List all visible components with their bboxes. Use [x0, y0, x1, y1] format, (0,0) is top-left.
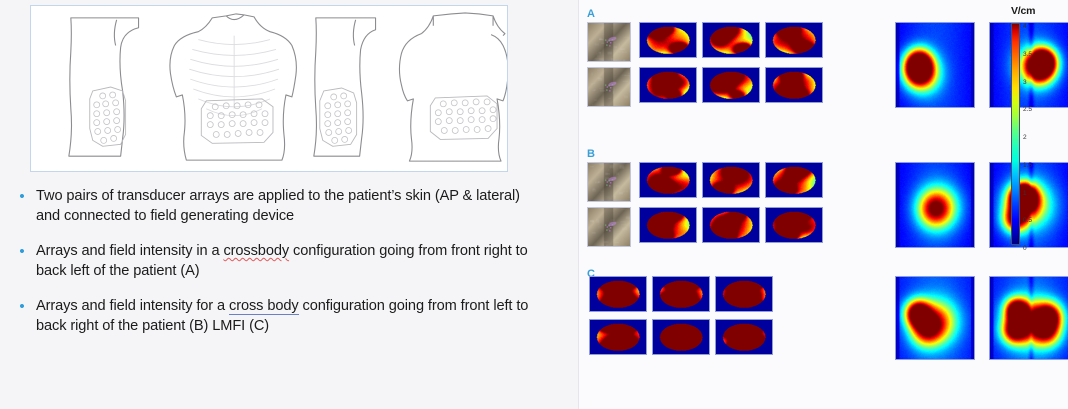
- axial-slice-heatmap: [702, 207, 760, 243]
- axial-slice-heatmap: [652, 319, 710, 355]
- axial-slice-heatmap: [715, 276, 773, 312]
- text-run: Two pairs of transducer arrays are appli…: [36, 188, 520, 224]
- torso-outline-figures: [31, 6, 507, 171]
- coronal-field-map: [989, 276, 1068, 360]
- bullet-marker-icon: •: [8, 241, 36, 260]
- spell-error-text: crossbody: [223, 243, 289, 259]
- colorbar-gradient: [1011, 23, 1020, 245]
- bullet-text: Two pairs of transducer arrays are appli…: [36, 186, 546, 226]
- axial-slice-heatmap: [765, 67, 823, 103]
- left-content-column: •Two pairs of transducer arrays are appl…: [0, 0, 578, 409]
- colorbar-ticks: 43.532.521.510.50: [1023, 19, 1059, 249]
- axial-slice-heatmap: [702, 22, 760, 58]
- text-run: Arrays and field intensity in a: [36, 243, 223, 259]
- bullet-marker-icon: •: [8, 296, 36, 315]
- axial-slice-heatmap: [765, 162, 823, 198]
- sagittal-field-map: [895, 276, 975, 360]
- bullet-marker-icon: •: [8, 186, 36, 205]
- axial-slice-heatmap: [652, 276, 710, 312]
- bullet-text: Arrays and field intensity for a cross b…: [36, 296, 546, 336]
- patient-photo-thumbnail: [587, 67, 631, 107]
- axial-slice-heatmap: [639, 67, 697, 103]
- bullet-text: Arrays and field intensity in a crossbod…: [36, 241, 546, 281]
- axial-slice-heatmap: [589, 319, 647, 355]
- colorbar-tick-label: 3: [1023, 79, 1027, 87]
- bullet-list: •Two pairs of transducer arrays are appl…: [8, 186, 560, 351]
- axial-slice-heatmap: [639, 207, 697, 243]
- colorbar-tick-label: 4: [1023, 23, 1027, 31]
- panel-label-a: A: [587, 8, 595, 20]
- colorbar-tick-label: 1.5: [1023, 162, 1032, 170]
- sagittal-field-map: [895, 162, 975, 248]
- colorbar-tick-label: 0: [1023, 245, 1027, 253]
- grammar-error-text: cross body: [229, 298, 299, 315]
- field-intensity-figure: ABC V/cm 43.532.521.510.50: [578, 0, 1068, 409]
- patient-photo-thumbnail: [587, 22, 631, 62]
- axial-slice-heatmap: [765, 207, 823, 243]
- axial-slice-heatmap: [589, 276, 647, 312]
- sagittal-field-map: [895, 22, 975, 108]
- axial-slice-heatmap: [715, 319, 773, 355]
- colorbar-tick-label: 2.5: [1023, 106, 1032, 114]
- axial-slice-heatmap: [765, 22, 823, 58]
- bullet-item: •Arrays and field intensity for a cross …: [8, 296, 560, 336]
- axial-slice-heatmap: [639, 162, 697, 198]
- patient-photo-thumbnail: [587, 207, 631, 247]
- body-diagram-box: [30, 5, 508, 172]
- slide-root: •Two pairs of transducer arrays are appl…: [0, 0, 1068, 409]
- panel-label-b: B: [587, 148, 595, 160]
- colorbar-tick-label: 2: [1023, 134, 1027, 142]
- text-run: Arrays and field intensity for a: [36, 298, 229, 314]
- colorbar: V/cm 43.532.521.510.50: [997, 5, 1063, 250]
- bullet-item: •Arrays and field intensity in a crossbo…: [8, 241, 560, 281]
- colorbar-tick-label: 0.5: [1023, 217, 1032, 225]
- axial-slice-heatmap: [702, 162, 760, 198]
- colorbar-tick-label: 1: [1023, 190, 1027, 198]
- bullet-item: •Two pairs of transducer arrays are appl…: [8, 186, 560, 226]
- axial-slice-heatmap: [702, 67, 760, 103]
- axial-slice-heatmap: [639, 22, 697, 58]
- colorbar-tick-label: 3.5: [1023, 51, 1032, 59]
- patient-photo-thumbnail: [587, 162, 631, 202]
- colorbar-title: V/cm: [1011, 5, 1035, 17]
